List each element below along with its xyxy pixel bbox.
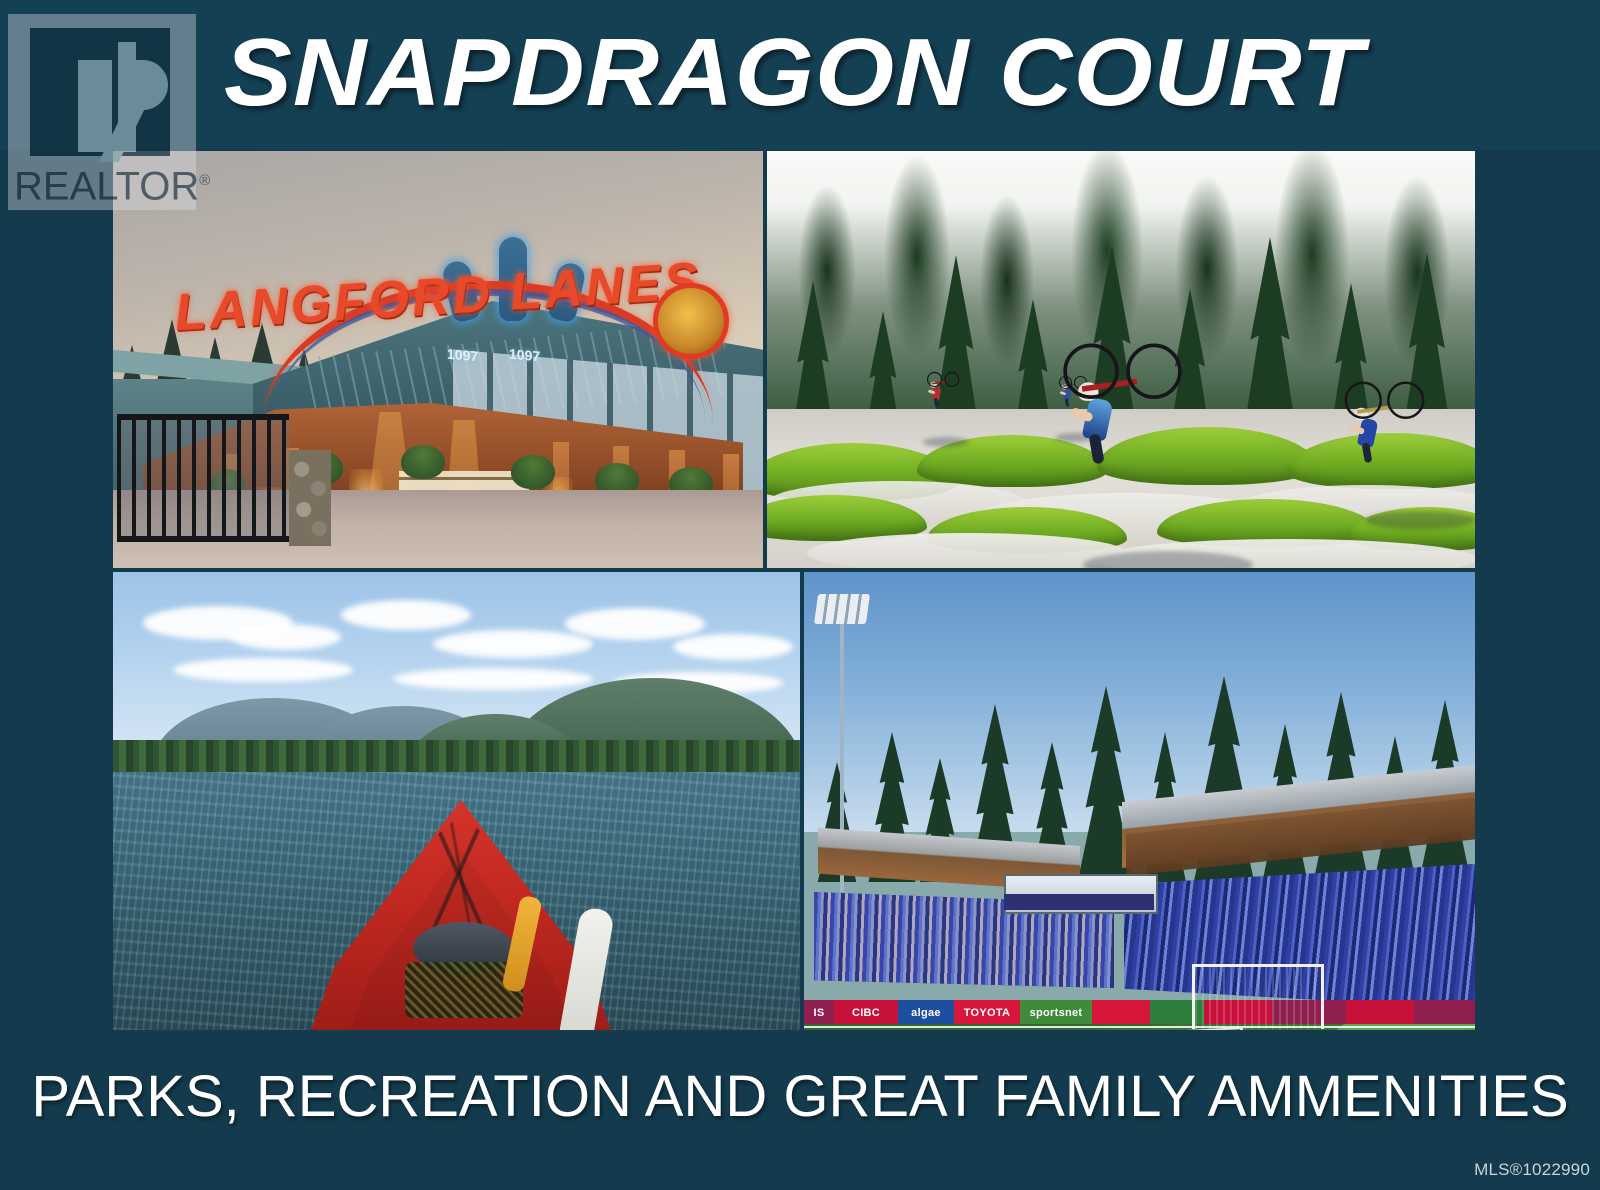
page-title: SNAPDRAGON COURT bbox=[224, 14, 1600, 132]
ad-board: TOYOTA bbox=[954, 1000, 1020, 1026]
ad-board bbox=[1092, 1000, 1150, 1026]
caption-text: PARKS, RECREATION AND GREAT FAMILY AMMEN… bbox=[0, 1063, 1600, 1130]
photo-lake-kayaking[interactable] bbox=[113, 572, 800, 1030]
iron-gate bbox=[117, 414, 289, 542]
ad-board: CIBC bbox=[834, 1000, 898, 1026]
photo-pump-track[interactable]: Langford bbox=[767, 151, 1475, 568]
shoreline-trees bbox=[113, 740, 800, 774]
ad-board: IS bbox=[804, 1000, 834, 1026]
ad-board bbox=[1346, 1000, 1414, 1026]
mls-id: MLS®1022990 bbox=[1474, 1160, 1590, 1180]
photo-soccer-stadium[interactable]: IS CIBC algae TOYOTA sportsnet bbox=[804, 572, 1475, 1030]
goal-line bbox=[1240, 1028, 1243, 1030]
advertising-boards: IS CIBC algae TOYOTA sportsnet bbox=[804, 1000, 1475, 1026]
goal-net bbox=[1192, 964, 1324, 1029]
ad-board: sportsnet bbox=[1020, 1000, 1092, 1026]
ad-board: algae bbox=[898, 1000, 954, 1026]
floodlight-head-icon bbox=[814, 594, 870, 624]
photo-grid: 1097 1097 LANGFORD LANES bbox=[113, 151, 1475, 1030]
listing-flyer: SNAPDRAGON COURT REALTOR® bbox=[0, 0, 1600, 1190]
ad-board bbox=[1414, 1000, 1475, 1026]
photo-langford-lanes[interactable]: 1097 1097 LANGFORD LANES bbox=[113, 151, 763, 568]
stone-pillar bbox=[289, 450, 331, 546]
press-box-banner bbox=[1004, 894, 1154, 910]
touchline bbox=[804, 1026, 1475, 1028]
logo-medallion-icon bbox=[653, 283, 729, 359]
